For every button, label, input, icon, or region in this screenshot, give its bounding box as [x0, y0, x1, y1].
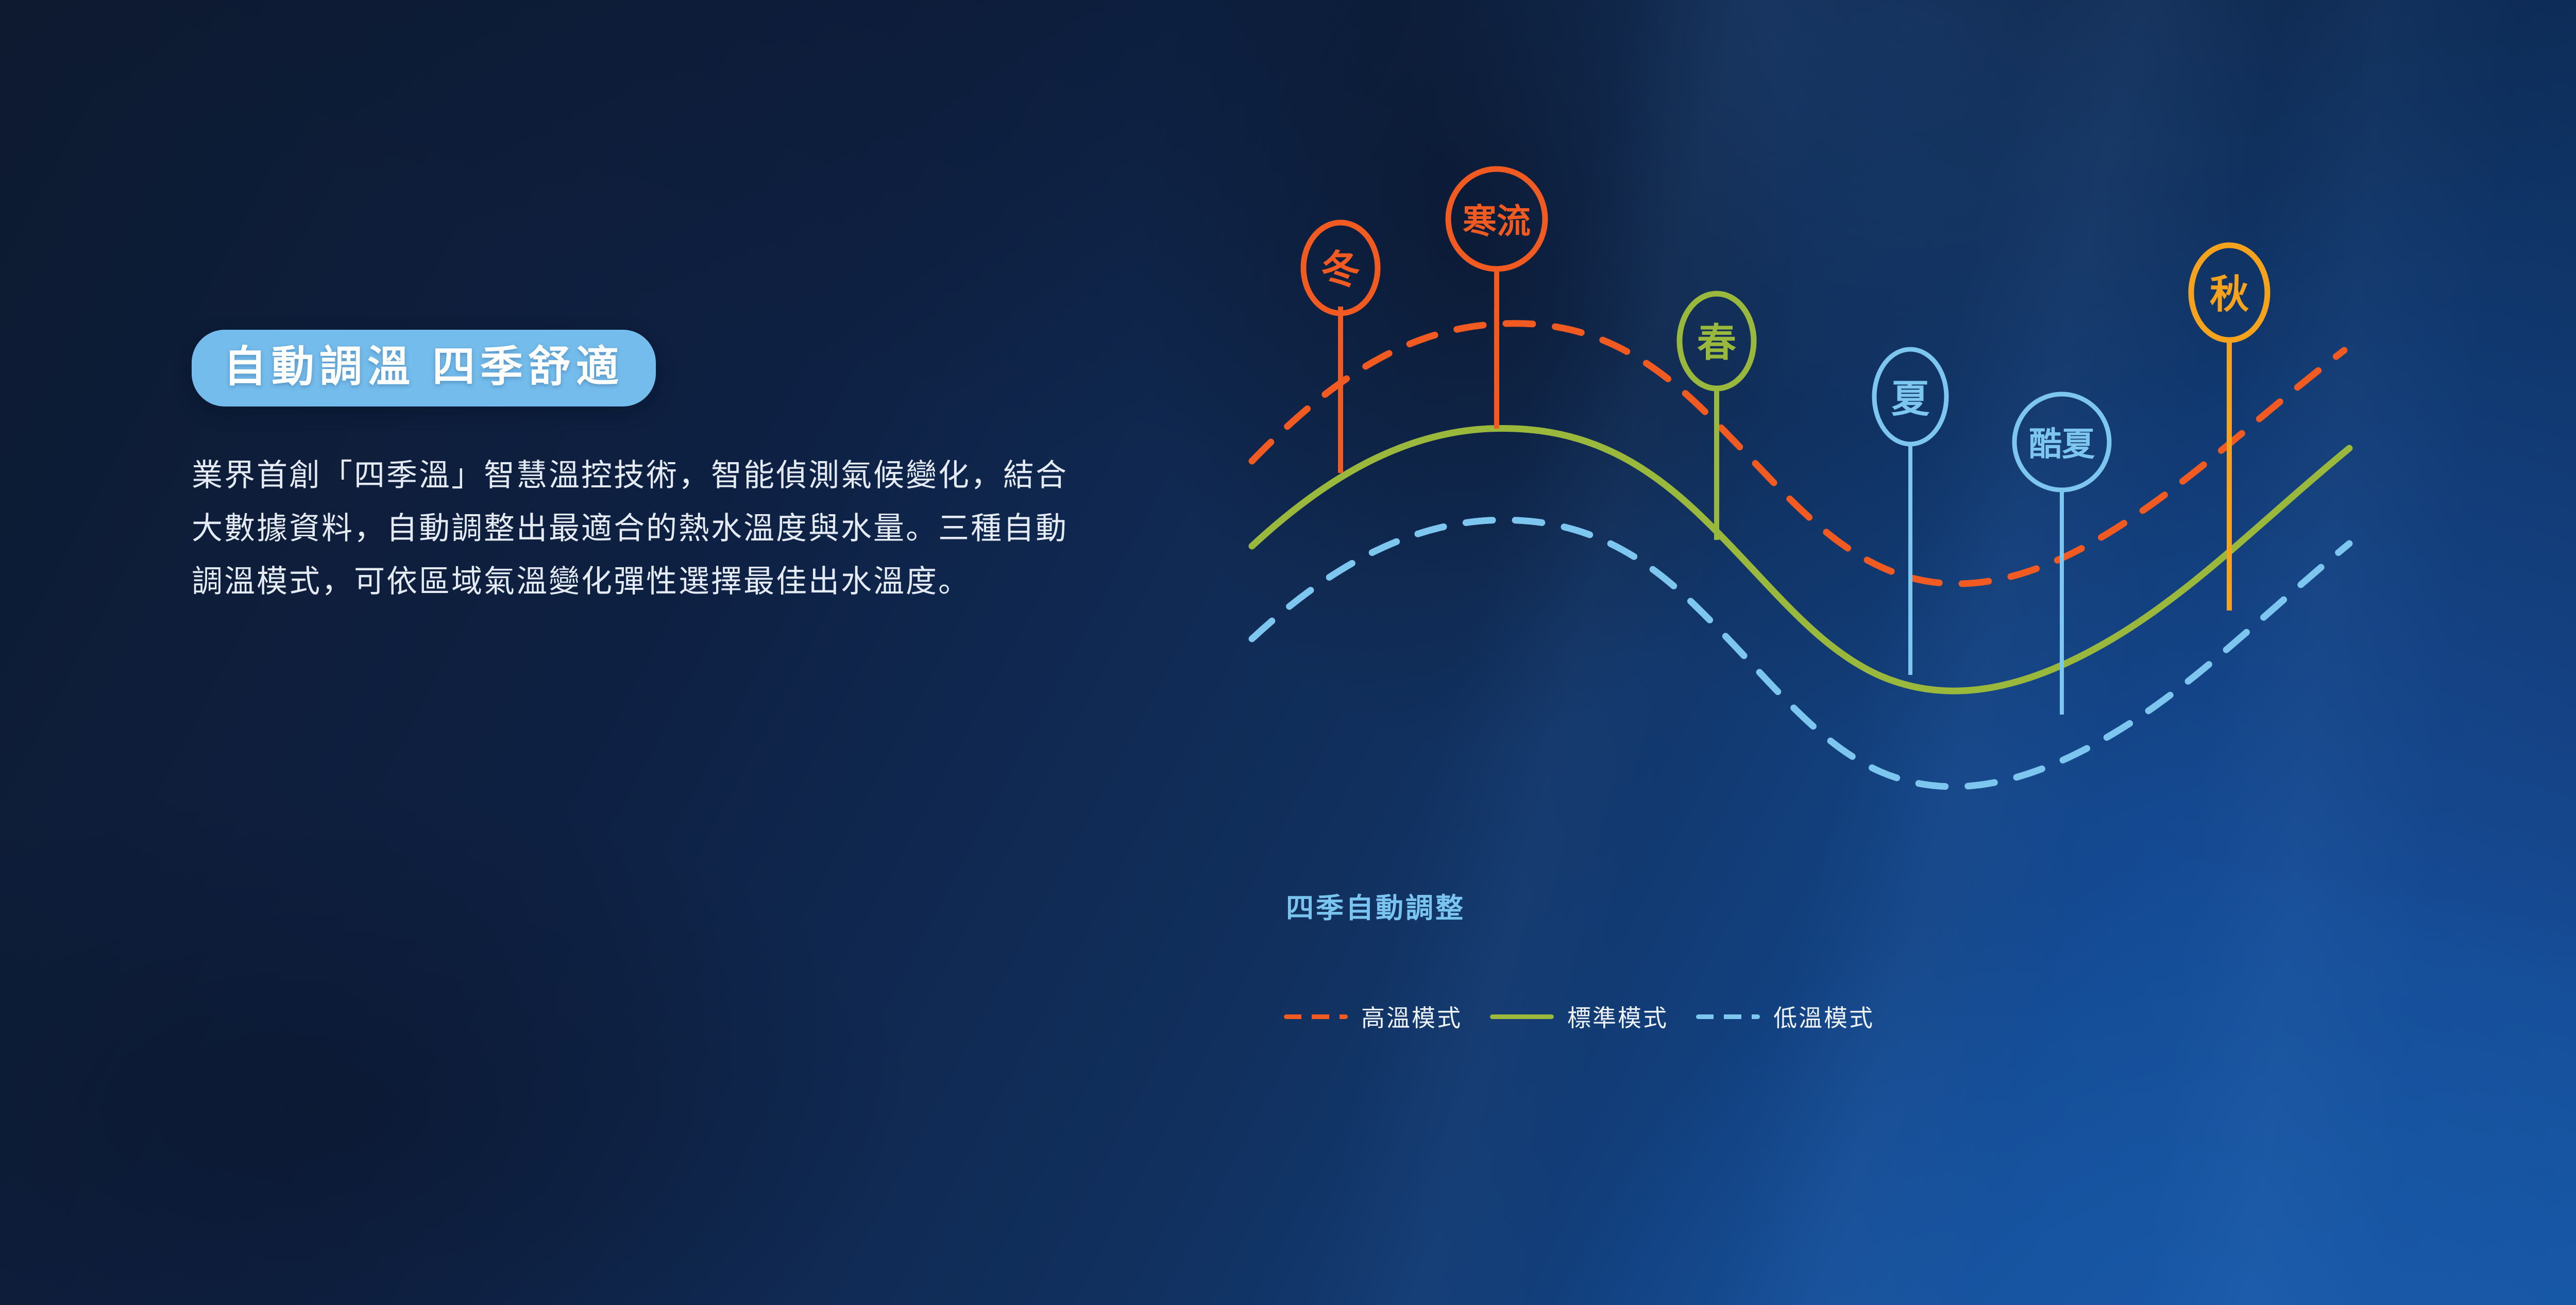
pin-label: 冬 [1321, 248, 1360, 292]
legend-item-low-temp[interactable]: 低溫模式 [1696, 999, 1874, 1033]
body-paragraph: 業界首創「四季溫」智慧溫控技術，智能偵測氣候變化，結合大數據資料，自動調整出最適… [192, 449, 1098, 608]
pin-label: 酷夏 [2029, 426, 2095, 463]
pin-marker-cold-wave[interactable]: 寒流 [1448, 169, 1545, 429]
series-line-high-temp [1252, 324, 2344, 584]
legend-swatch-solid-green-icon [1490, 1014, 1554, 1019]
legend-label: 低溫模式 [1773, 999, 1874, 1033]
legend-item-high-temp[interactable]: 高溫模式 [1284, 999, 1462, 1033]
page-title: 自動調溫 四季舒適 [224, 345, 624, 388]
series-line-low-temp [1252, 520, 2349, 787]
legend-swatch-dashed-orange-icon [1284, 1014, 1348, 1019]
pin-marker-autumn[interactable]: 秋 [2191, 245, 2267, 611]
text-column: 自動調溫 四季舒適 業界首創「四季溫」智慧溫控技術，智能偵測氣候變化，結合大數據… [192, 330, 1129, 639]
legend-label: 標準模式 [1567, 999, 1668, 1033]
pin-marker-hot-summer[interactable]: 酷夏 [2014, 394, 2109, 715]
series-line-standard [1252, 428, 2349, 691]
chart-legend: 高溫模式 標準模式 低溫模式 [1284, 999, 1874, 1033]
legend-swatch-dashed-blue-icon [1696, 1014, 1760, 1019]
promo-panel: 自動調溫 四季舒適 業界首創「四季溫」智慧溫控技術，智能偵測氣候變化，結合大數據… [0, 0, 2576, 1305]
pin-label: 秋 [2210, 273, 2249, 317]
pin-marker-winter[interactable]: 冬 [1303, 223, 1378, 473]
chart-caption: 四季自動調整 [1286, 885, 1465, 926]
pin-label: 寒流 [1463, 202, 1531, 240]
title-badge: 自動調溫 四季舒適 [192, 330, 656, 406]
legend-label: 高溫模式 [1361, 999, 1462, 1033]
legend-item-standard[interactable]: 標準模式 [1490, 999, 1668, 1033]
pin-label: 夏 [1891, 378, 1930, 420]
pin-label: 春 [1697, 321, 1736, 365]
pin-marker-summer[interactable]: 夏 [1874, 349, 1946, 675]
seasonal-temperature-chart: 冬 寒流 春 夏 [1247, 227, 2432, 922]
